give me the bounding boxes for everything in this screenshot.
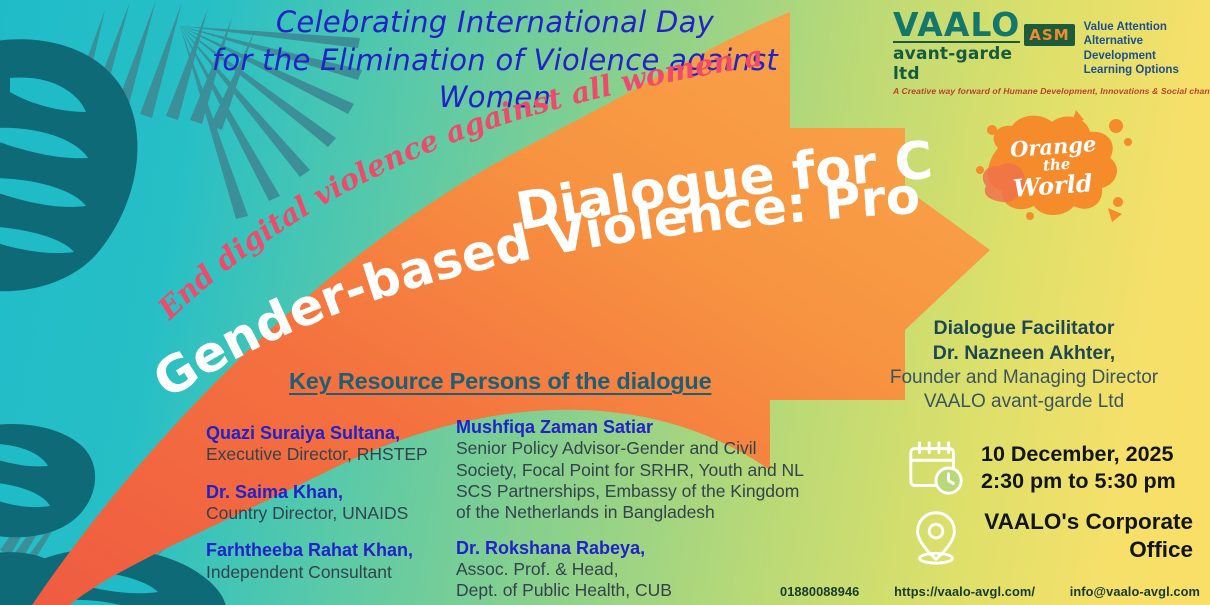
logo-tagline: A Creative way forward of Humane Develop… (893, 86, 1205, 96)
resource-persons-column-right: Mushfiqa Zaman Satiar Senior Policy Advi… (456, 416, 816, 605)
event-datetime-row: 10 December, 2025 2:30 pm to 5:30 pm (905, 437, 1176, 499)
facilitator-organisation: VAALO avant-garde Ltd (850, 390, 1198, 414)
facilitator-title: Founder and Managing Director (850, 366, 1198, 390)
asm-mark-icon: ASM (1024, 24, 1074, 46)
resource-person-name: Mushfiqa Zaman Satiar (456, 416, 816, 438)
resource-person-role: Senior Policy Advisor-Gender and Civil S… (456, 438, 816, 523)
resource-person-item: Farhtheeba Rahat Khan, Independent Consu… (206, 539, 446, 583)
resource-person-name: Dr. Rokshana Rabeya, (456, 537, 816, 559)
resource-person-name: Dr. Saima Khan, (206, 481, 446, 503)
resource-person-role: Assoc. Prof. & Head, Dept. of Public Hea… (456, 559, 816, 602)
logo-brand: VAALO (893, 8, 1020, 41)
resource-person-role: Independent Consultant (206, 562, 446, 583)
resource-person-name: Farhtheeba Rahat Khan, (206, 539, 446, 561)
key-resource-persons-heading: Key Resource Persons of the dialogue (289, 368, 711, 395)
venue-line-1: VAALO's Corporate (981, 508, 1193, 536)
event-venue-row: VAALO's Corporate Office (905, 505, 1193, 567)
resource-persons-column-left: Quazi Suraiya Sultana, Executive Directo… (206, 422, 446, 598)
resource-person-name: Quazi Suraiya Sultana, (206, 422, 446, 444)
event-time: 2:30 pm to 5:30 pm (981, 468, 1176, 495)
facilitator-label: Dialogue Facilitator (850, 316, 1198, 341)
event-venue-text: VAALO's Corporate Office (981, 508, 1193, 565)
dialogue-facilitator-block: Dialogue Facilitator Dr. Nazneen Akhter,… (850, 316, 1198, 414)
event-datetime-text: 10 December, 2025 2:30 pm to 5:30 pm (981, 441, 1176, 495)
location-pin-icon (905, 505, 967, 567)
resource-person-item: Mushfiqa Zaman Satiar Senior Policy Advi… (456, 416, 816, 524)
footer-contact-bar: 01880088946 https://vaalo-avgl.com/ info… (780, 584, 1200, 599)
resource-person-item: Dr. Saima Khan, Country Director, UNAIDS (206, 481, 446, 525)
logo-expansion-line-1: Value Attention Alternative (1084, 20, 1205, 49)
resource-person-role: Executive Director, RHSTEP (206, 444, 446, 465)
contact-email[interactable]: info@vaalo-avgl.com (1070, 584, 1200, 599)
logo-brand-sub: avant-garde ltd (893, 41, 1020, 84)
curved-title-line-2: Gender-based Violence: Progress Pathway (0, 0, 922, 410)
contact-phone: 01880088946 (780, 584, 859, 599)
calendar-clock-icon (905, 437, 967, 499)
logo-expansion-line-2: Development Learning Options (1084, 49, 1205, 78)
facilitator-name: Dr. Nazneen Akhter, (850, 341, 1198, 366)
paint-splatter-icon (968, 108, 1138, 226)
orange-the-world-badge: Orange the World (968, 108, 1138, 226)
venue-line-2: Office (981, 536, 1193, 564)
resource-person-item: Dr. Rokshana Rabeya, Assoc. Prof. & Head… (456, 537, 816, 602)
resource-person-item: Quazi Suraiya Sultana, Executive Directo… (206, 422, 446, 466)
event-poster: Celebrating International Day for the El… (0, 0, 1210, 605)
contact-website[interactable]: https://vaalo-avgl.com/ (894, 584, 1035, 599)
resource-person-role: Country Director, UNAIDS (206, 503, 446, 524)
event-date: 10 December, 2025 (981, 441, 1176, 468)
vaalo-logo: VAALO avant-garde ltd ASM Value Attentio… (893, 8, 1205, 70)
